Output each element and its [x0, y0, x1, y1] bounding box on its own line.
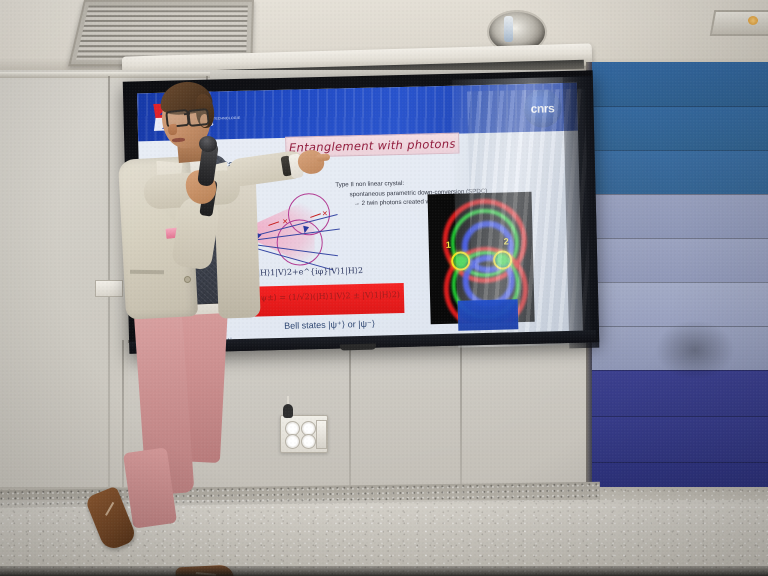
wall-panel — [592, 416, 768, 462]
ceiling-light-fixture-icon — [710, 10, 768, 36]
bell-states-caption: Bell states |ψ⁺⟩ or |ψ⁻⟩ — [255, 318, 405, 333]
plug-connector-icon — [283, 404, 293, 418]
panel-seam — [592, 194, 768, 195]
panel-seam — [592, 282, 768, 283]
jacket-button — [184, 276, 191, 283]
power-socket-icon[interactable] — [301, 434, 316, 449]
screen-pull-tab — [340, 344, 376, 351]
panel-seam — [592, 150, 768, 151]
panel-seam — [592, 462, 768, 463]
panel-seam — [592, 106, 768, 107]
wall-smudge — [655, 320, 735, 380]
spotlight-glint — [504, 16, 513, 42]
panel-seam — [592, 238, 768, 239]
ceiling-lamp-bulb — [748, 16, 758, 25]
photo-bottom-vignette — [0, 566, 768, 576]
wall-panel — [592, 194, 768, 238]
photo-scene: utt UNIVERSITE DE TECHNOLOGIE TROYES cnr… — [0, 0, 768, 576]
presenter-nose — [167, 124, 177, 136]
vent-louvers — [76, 6, 248, 60]
outlet-switch[interactable] — [316, 420, 327, 449]
cabinet-top-edge — [0, 72, 210, 78]
wall-panel — [592, 106, 768, 150]
cabinet-seam — [349, 340, 351, 500]
power-socket-icon[interactable] — [285, 434, 300, 449]
wall-panel — [592, 62, 768, 106]
x-marker: ✕ — [282, 218, 288, 226]
presenter-jacket-pocket — [130, 270, 164, 275]
wall-panel — [592, 238, 768, 282]
cabinet-seam — [460, 340, 462, 500]
presenter — [0, 80, 260, 550]
right-wall-panels — [592, 62, 768, 522]
x-marker: ✕ — [322, 210, 328, 218]
photon-label-1: 1 — [446, 240, 451, 250]
panel-seam — [592, 416, 768, 417]
screen-blue-reflection — [458, 299, 519, 330]
wall-panel — [592, 150, 768, 194]
glasses-lens-right-icon — [187, 108, 210, 127]
